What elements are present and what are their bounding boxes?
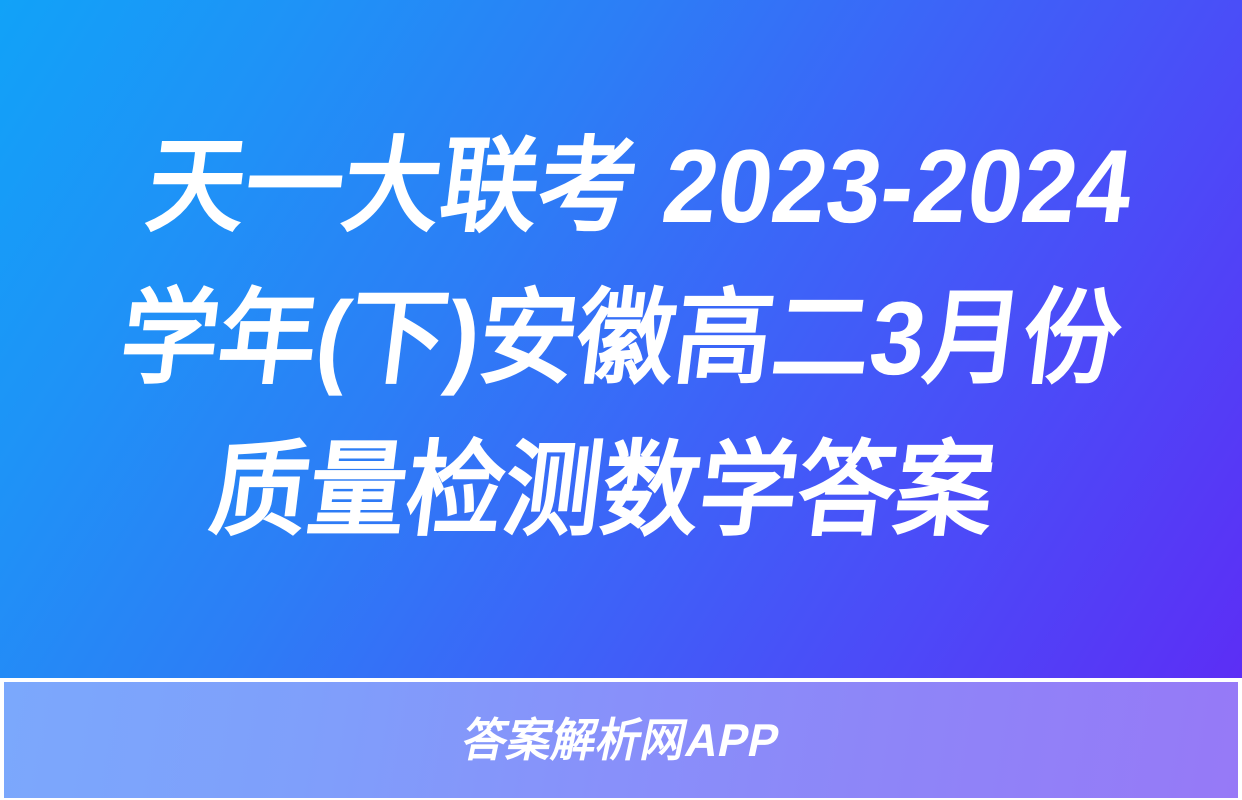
answer-poster-card: 天一大联考 2023-2024 学年(下)安徽高二3月份 质量检测数学答案 答案… [0,0,1242,800]
page-title-line-3: 质量检测数学答案 [38,415,1166,567]
footer-brand-band: 答案解析网APP [4,682,1238,798]
page-title: 天一大联考 2023-2024 学年(下)安徽高二3月份 质量检测数学答案 [38,111,1203,567]
hero-gradient-banner: 天一大联考 2023-2024 学年(下)安徽高二3月份 质量检测数学答案 [0,0,1242,678]
page-title-line-1: 天一大联考 2023-2024 [76,111,1204,263]
app-brand-label: 答案解析网APP [458,717,783,763]
page-title-line-2: 学年(下)安徽高二3月份 [57,263,1185,415]
